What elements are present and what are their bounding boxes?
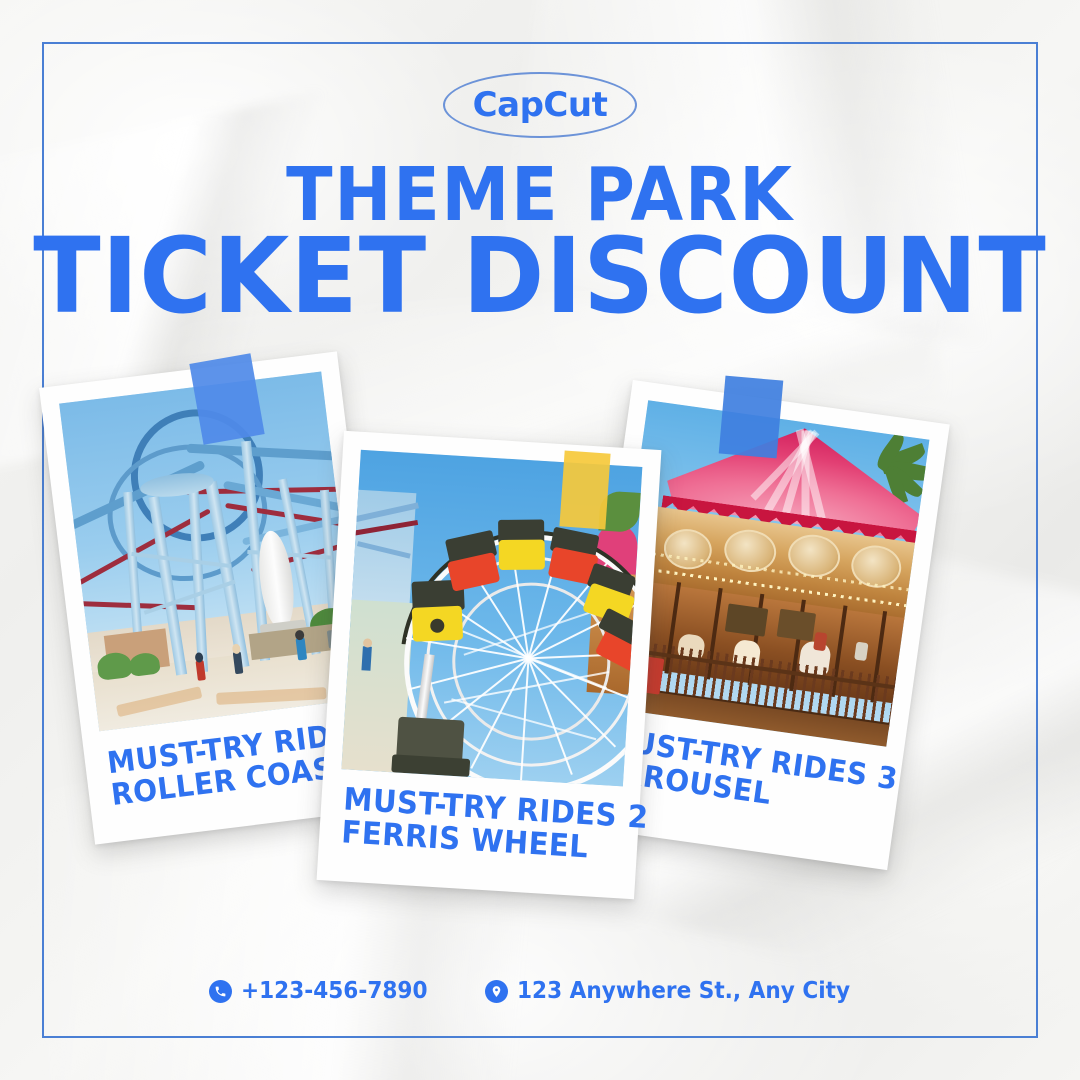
poster-canvas: CapCut THEME PARK TICKET DISCOUNT	[0, 0, 1080, 1080]
tape-ferris-wheel	[559, 450, 610, 529]
phone-icon	[209, 980, 232, 1003]
page-title-line2: TICKET DISCOUNT	[27, 224, 1053, 328]
card-caption-ferris-wheel: MUST-TRY RIDES 2 FERRIS WHEEL	[340, 783, 622, 866]
footer-contact-bar: +123-456-7890 123 Anywhere St., Any City	[0, 978, 1080, 1004]
contact-phone[interactable]: +123-456-7890	[209, 978, 439, 1004]
contact-address[interactable]: 123 Anywhere St., Any City	[485, 978, 871, 1004]
phone-number: +123-456-7890	[241, 978, 428, 1004]
capcut-logo-label: CapCut	[473, 88, 608, 122]
tape-carousel	[719, 376, 784, 459]
capcut-logo: CapCut	[443, 72, 637, 138]
photo-card-ferris-wheel[interactable]: MUST-TRY RIDES 2 FERRIS WHEEL	[317, 431, 662, 900]
address-text: 123 Anywhere St., Any City	[517, 978, 850, 1004]
location-pin-icon	[485, 980, 508, 1003]
